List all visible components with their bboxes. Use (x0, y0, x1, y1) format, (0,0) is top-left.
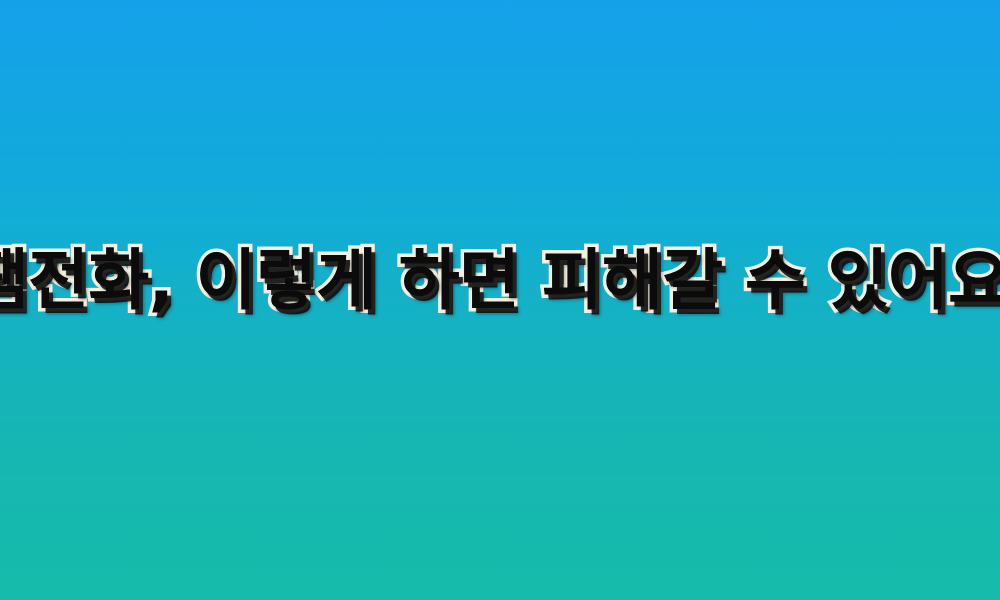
banner-headline-fill: 팸전화, 이렇게 하면 피해갈 수 있어요! (0, 248, 1000, 314)
banner-image: 팸전화, 이렇게 하면 피해갈 수 있어요!팸전화, 이렇게 하면 피해갈 수 … (0, 0, 1000, 600)
banner-headline: 팸전화, 이렇게 하면 피해갈 수 있어요!팸전화, 이렇게 하면 피해갈 수 … (0, 248, 1000, 314)
headline-container: 팸전화, 이렇게 하면 피해갈 수 있어요!팸전화, 이렇게 하면 피해갈 수 … (0, 0, 1000, 600)
